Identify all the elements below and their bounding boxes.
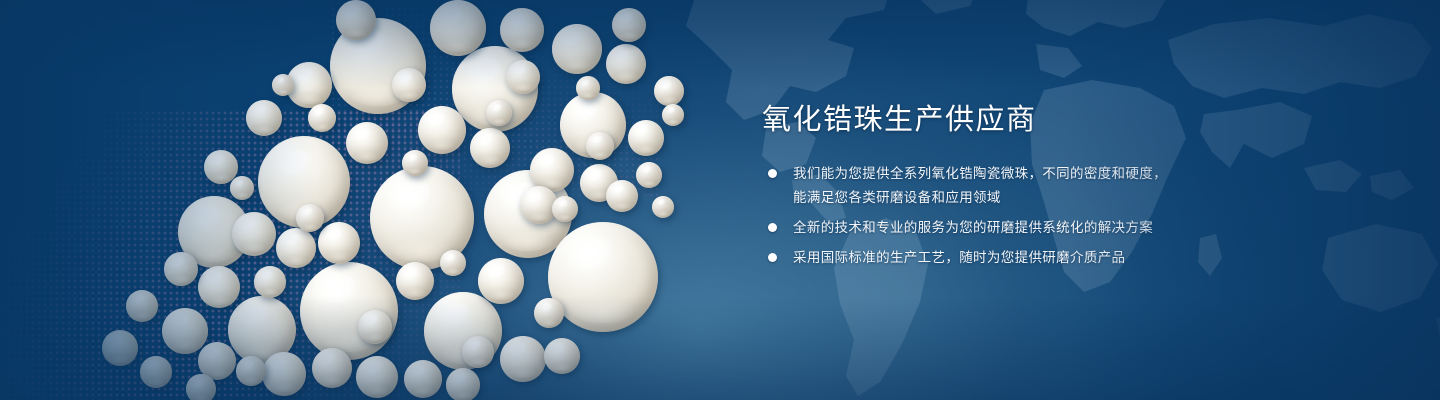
hero-banner: 氧化锆珠生产供应商 我们能为您提供全系列氧化锆陶瓷微珠，不同的密度和硬度， 能满… <box>0 0 1440 400</box>
banner-vignette <box>0 0 1440 400</box>
